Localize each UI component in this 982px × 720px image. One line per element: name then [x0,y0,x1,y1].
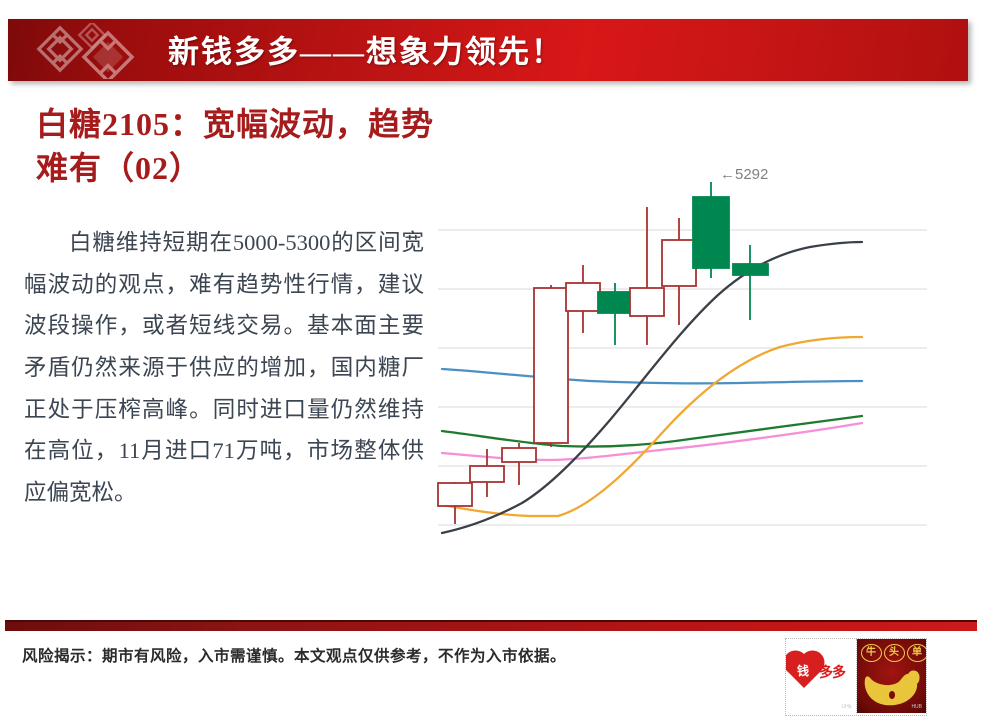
stamp-text-duoduo: 多多 [819,667,845,681]
stamp-circle-tou: 头 [884,644,905,662]
ma-black-line [442,242,862,533]
candle-up [502,443,536,485]
bull-head-icon [861,665,923,711]
ma-orange-line [442,337,862,516]
candle-up [534,285,568,447]
candlestick-series [438,182,768,524]
header-banner: 新钱多多——想象力领先！ [8,19,968,81]
slide-root: 新钱多多——想象力领先！ 白糖2105：宽幅波动，趋势难有（02） 白糖维持短期… [0,0,982,720]
footer-stamps: 钱 多多 UHb 牛 头 单 HUB [785,638,927,716]
candle-down [693,182,729,278]
candle-up [662,218,696,325]
stamp-circle-row: 牛 头 单 [861,644,927,662]
ma-blue-line [442,369,862,383]
candle-up [566,265,600,333]
stamp-circle-niu: 牛 [861,644,882,662]
annotation-label: ←5292 [720,166,768,183]
ma-lines-group [442,242,862,533]
footer-disclaimer: 风险揭示：期市有风险，入市需谨慎。本文观点仅供参考，不作为入市依据。 [22,644,722,666]
candle-up [438,482,472,524]
stamp-char-qian: 钱 [797,665,809,677]
ma-green-line [442,416,862,447]
candle-down [598,283,632,345]
candle-up [630,207,664,345]
candle-down [733,245,768,320]
chart-svg: ←5292 [430,155,930,545]
body-paragraph: 白糖维持短期在5000-5300的区间宽幅波动的观点，难有趋势性行情，建议波段操… [24,222,424,513]
qianduoduo-stamp: 钱 多多 UHb [786,639,857,713]
footer-divider [5,620,977,631]
stamp-corner-mark: UHb [841,704,851,710]
candlestick-chart: ←5292 [430,155,930,545]
header-title: 新钱多多——想象力领先！ [168,27,564,72]
chinese-knot-diamond-logo [30,23,150,79]
price-annotation: ←5292 [720,166,768,183]
page-title: 白糖2105：宽幅波动，趋势难有（02） [36,102,456,190]
niutoudan-stamp: 牛 头 单 HUB [857,639,927,713]
stamp-circle-dan: 单 [907,644,927,662]
